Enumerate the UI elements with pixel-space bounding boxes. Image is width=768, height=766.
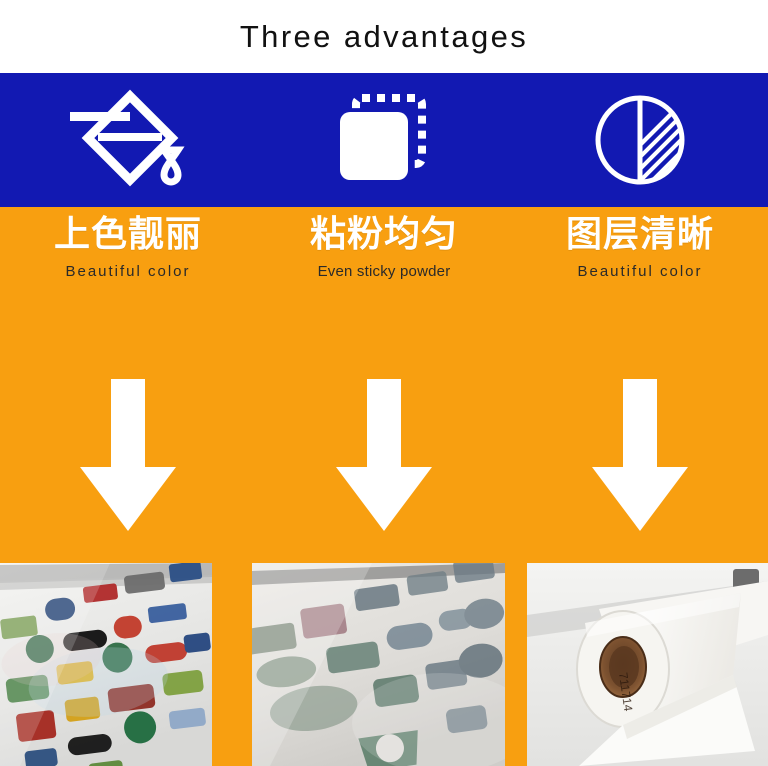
paint-bucket-icon <box>68 88 188 192</box>
icon-cell-3 <box>512 73 768 207</box>
heading-row: 上色靓丽 Beautiful color 粘粉均匀 Even sticky po… <box>0 207 768 307</box>
advantage-title-en: Beautiful color <box>65 263 190 280</box>
advantage-2: 粘粉均匀 Even sticky powder <box>256 207 512 307</box>
down-arrow-icon <box>80 379 176 531</box>
advantage-title-cn: 上色靓丽 <box>54 211 202 257</box>
arrow-cell-2 <box>256 367 512 542</box>
arrow-cell-3 <box>512 367 768 542</box>
down-arrow-icon <box>592 379 688 531</box>
icon-banner <box>0 73 768 207</box>
photo-row: 711714 <box>0 563 768 766</box>
advantages-infographic: Three advantages <box>0 0 768 766</box>
printed-color-transfers-photo <box>0 563 212 766</box>
advantage-title-cn: 图层清晰 <box>566 211 714 257</box>
icon-cell-1 <box>0 73 256 207</box>
arrow-cell-1 <box>0 367 256 542</box>
advantage-1: 上色靓丽 Beautiful color <box>0 207 256 307</box>
arrow-row <box>0 367 768 542</box>
icon-cell-2 <box>256 73 512 207</box>
contrast-circle-icon <box>591 91 689 189</box>
advantage-title-cn: 粘粉均匀 <box>310 211 458 257</box>
title-bar: Three advantages <box>0 0 768 73</box>
advantage-title-en: Even sticky powder <box>318 263 451 280</box>
layer-square-icon <box>332 92 436 188</box>
down-arrow-icon <box>336 379 432 531</box>
advantage-3: 图层清晰 Beautiful color <box>512 207 768 307</box>
gray-transfer-film-photo <box>252 563 505 766</box>
white-film-roll-photo: 711714 <box>527 563 768 766</box>
body-panel: 上色靓丽 Beautiful color 粘粉均匀 Even sticky po… <box>0 207 768 766</box>
page-title: Three advantages <box>240 19 528 55</box>
advantage-title-en: Beautiful color <box>577 263 702 280</box>
